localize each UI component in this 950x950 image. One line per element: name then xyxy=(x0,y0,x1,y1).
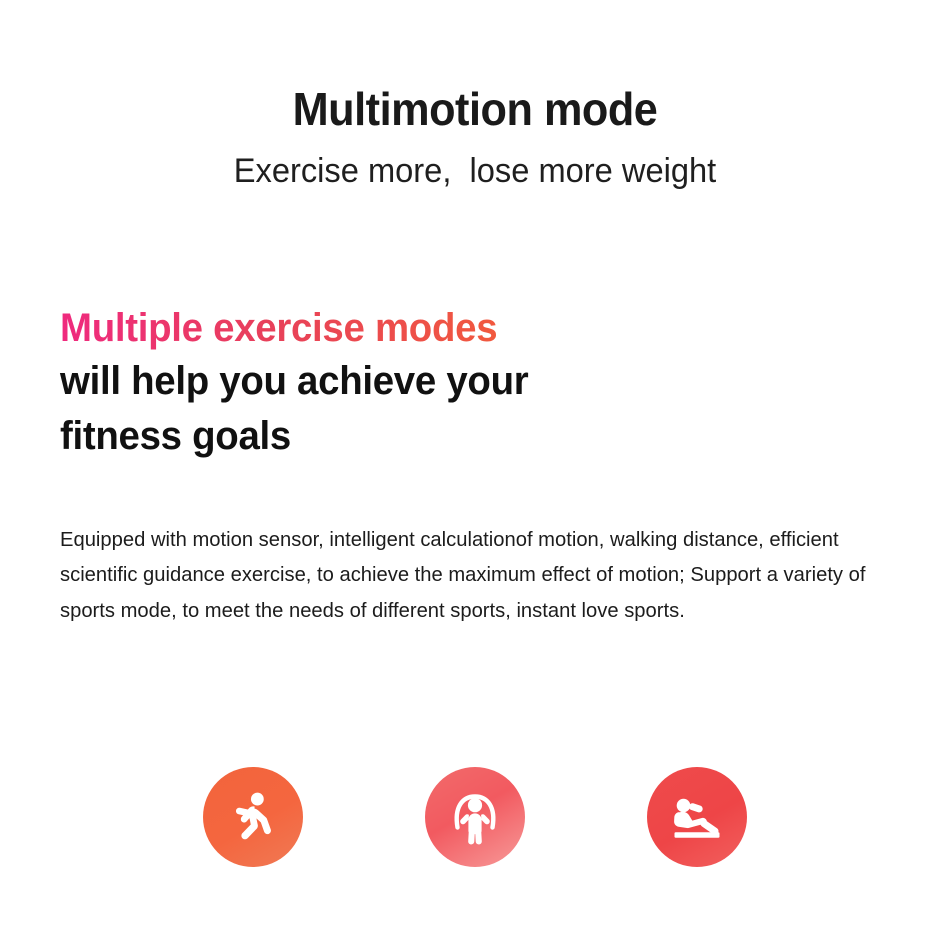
description-paragraph: Equipped with motion sensor, intelligent… xyxy=(60,522,876,628)
headline-line-1: will help you achieve your xyxy=(60,351,866,406)
gradient-headline-wrap: Multiple exercise modes xyxy=(60,306,900,351)
headline-line-2: fitness goals xyxy=(60,406,866,461)
gradient-headline: Multiple exercise modes xyxy=(60,306,497,351)
page-title: Multimotion mode xyxy=(29,86,922,132)
header: Multimotion mode Exercise more, lose mor… xyxy=(0,0,950,188)
running-icon xyxy=(203,767,303,867)
sit-up-icon xyxy=(647,767,747,867)
sport-mode-icon-row xyxy=(0,762,950,872)
page-subtitle: Exercise more, lose more weight xyxy=(19,132,931,188)
jump-rope-icon xyxy=(425,767,525,867)
promo-page: Multimotion mode Exercise more, lose mor… xyxy=(0,0,950,950)
headline-block: Multiple exercise modes will help you ac… xyxy=(60,306,900,460)
